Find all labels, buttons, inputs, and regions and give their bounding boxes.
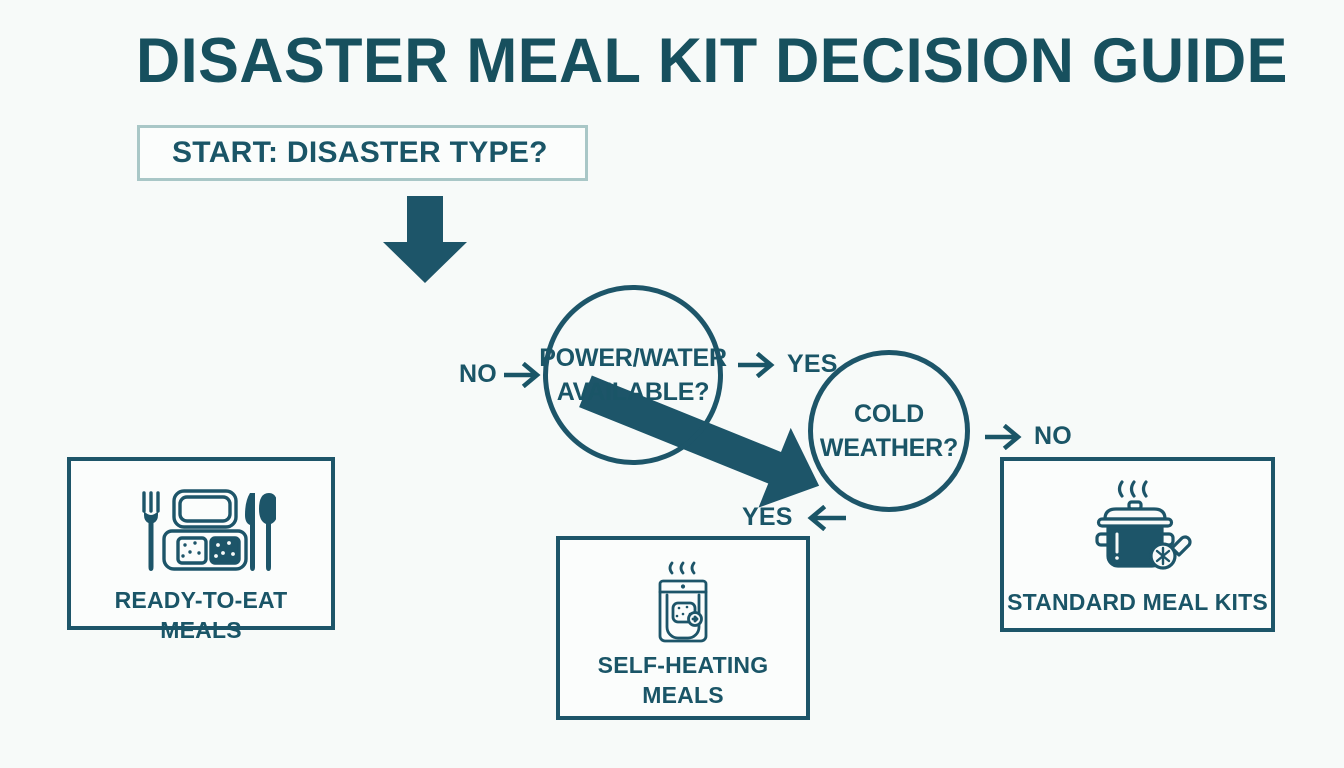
left-arrow-icon	[800, 505, 846, 531]
meal-tray-icon-wrap	[71, 479, 331, 579]
decision-power-water-line2: AVAILABLE?	[557, 378, 710, 406]
page-title: DISASTER MEAL KIT DECISION GUIDE	[136, 24, 1164, 98]
outcome-standard-meal-kits-caption: STANDARD MEAL KITS	[1004, 587, 1271, 617]
edge-label-no-left: NO	[459, 360, 546, 389]
decision-cold-weather-line1: COLD	[854, 400, 924, 428]
edge-label-yes-top: YES	[738, 350, 838, 379]
decision-power-water-label: POWER/WATER AVAILABLE?	[539, 341, 727, 409]
meal-tray-icon	[126, 481, 276, 577]
decision-cold-weather-line2: WEATHER?	[820, 434, 958, 462]
outcome-ready-to-eat: READY-TO-EAT MEALS	[67, 457, 335, 630]
right-arrow-icon	[985, 424, 1027, 450]
right-arrow-icon	[738, 352, 780, 378]
self-heating-pouch-icon	[644, 557, 722, 647]
outcome-standard-meal-kits: STANDARD MEAL KITS	[1000, 457, 1275, 632]
outcome-ready-to-eat-caption: READY-TO-EAT MEALS	[71, 585, 331, 645]
self-heating-pouch-icon-wrap	[560, 556, 806, 648]
decision-guide-diagram: DISASTER MEAL KIT DECISION GUIDE START: …	[0, 0, 1344, 768]
outcome-self-heating: SELF-HEATING MEALS	[556, 536, 810, 720]
decision-power-water: POWER/WATER AVAILABLE?	[543, 285, 723, 465]
outcome-self-heating-caption-line1: SELF-HEATING	[560, 650, 806, 680]
cooking-pot-icon	[1079, 478, 1197, 576]
decision-power-water-line1: POWER/WATER	[539, 344, 727, 372]
outcome-self-heating-caption: SELF-HEATING MEALS	[560, 650, 806, 710]
down-block-arrow	[383, 196, 467, 283]
outcome-self-heating-caption-line2: MEALS	[560, 680, 806, 710]
edge-label-yes-bottom: YES	[742, 503, 846, 532]
start-node-label: START: DISASTER TYPE?	[172, 136, 548, 170]
edge-label-no-left-text: NO	[459, 360, 497, 389]
cooking-pot-icon-wrap	[1004, 477, 1271, 577]
edge-label-yes-bottom-text: YES	[742, 503, 793, 532]
edge-label-no-right-text: NO	[1034, 422, 1072, 451]
edge-label-no-right: NO	[985, 422, 1072, 451]
edge-label-yes-top-text: YES	[787, 350, 838, 379]
right-arrow-icon	[504, 362, 546, 388]
decision-cold-weather-label: COLD WEATHER?	[820, 397, 958, 465]
start-node: START: DISASTER TYPE?	[137, 125, 588, 181]
